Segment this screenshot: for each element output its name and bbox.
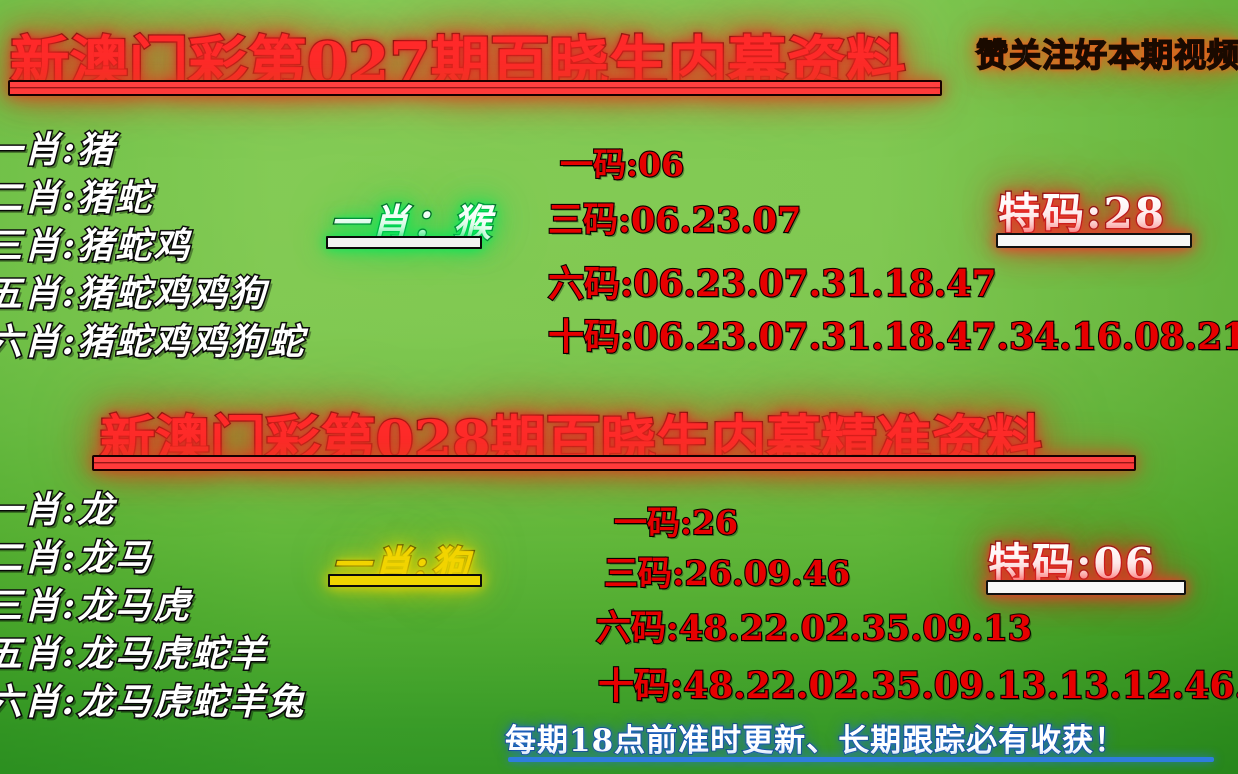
code-row-six-027: 六码:06.23.07.31.18.47 bbox=[548, 255, 997, 307]
zodiac-list-027: 一肖:猪 二肖:猪蛇 三肖:猪蛇鸡 五肖:猪蛇鸡鸡狗 六肖:猪蛇鸡鸡狗蛇 bbox=[0, 132, 305, 372]
zodiac-row: 二肖:猪蛇 bbox=[0, 180, 305, 216]
zodiac-row: 五肖:龙马虎蛇羊 bbox=[0, 636, 305, 672]
code-row-ten-027: 十码:06.23.07.31.18.47.34.16.08.21 bbox=[548, 308, 1238, 360]
zodiac-row: 五肖:猪蛇鸡鸡狗 bbox=[0, 276, 305, 312]
single-zodiac-pick-027-underline bbox=[326, 236, 482, 249]
zodiac-row: 六肖:龙马虎蛇羊兔 bbox=[0, 684, 305, 720]
single-zodiac-pick-028-underline bbox=[328, 574, 482, 587]
section-028-title-underline bbox=[92, 455, 1136, 471]
special-code-027: 特码:28 bbox=[998, 180, 1166, 241]
special-code-028-underline bbox=[986, 580, 1186, 595]
code-row-ten-028: 十码:48.22.02.35.09.13.13.12.46.26.03 bbox=[598, 657, 1238, 709]
code-row-three-027: 三码:06.23.07 bbox=[548, 192, 801, 243]
poster-canvas: 新澳门彩第027期百晓生内幕资料 赞关注好本期视频 一肖:猪 二肖:猪蛇 三肖:… bbox=[0, 0, 1238, 774]
footer-note: 每期18点前准时更新、长期跟踪必有收获！ bbox=[505, 715, 1126, 760]
code-row-three-028: 三码:26.09.46 bbox=[604, 546, 850, 595]
code-row-one-027: 一码:06 bbox=[560, 138, 684, 186]
footer-note-underline bbox=[508, 757, 1214, 762]
zodiac-row: 一肖:猪 bbox=[0, 132, 305, 168]
zodiac-list-028: 一肖:龙 二肖:龙马 三肖:龙马虎 五肖:龙马虎蛇羊 六肖:龙马虎蛇羊兔 bbox=[0, 492, 305, 732]
zodiac-row: 三肖:猪蛇鸡 bbox=[0, 228, 305, 264]
promo-text: 赞关注好本期视频 bbox=[976, 30, 1238, 76]
zodiac-row: 一肖:龙 bbox=[0, 492, 305, 528]
section-027-title-underline bbox=[8, 80, 942, 96]
code-row-six-028: 六码:48.22.02.35.09.13 bbox=[596, 600, 1032, 651]
zodiac-row: 三肖:龙马虎 bbox=[0, 588, 305, 624]
zodiac-row: 六肖:猪蛇鸡鸡狗蛇 bbox=[0, 324, 305, 360]
code-row-one-028: 一码:26 bbox=[614, 496, 738, 544]
zodiac-row: 二肖:龙马 bbox=[0, 540, 305, 576]
special-code-027-underline bbox=[996, 233, 1192, 248]
